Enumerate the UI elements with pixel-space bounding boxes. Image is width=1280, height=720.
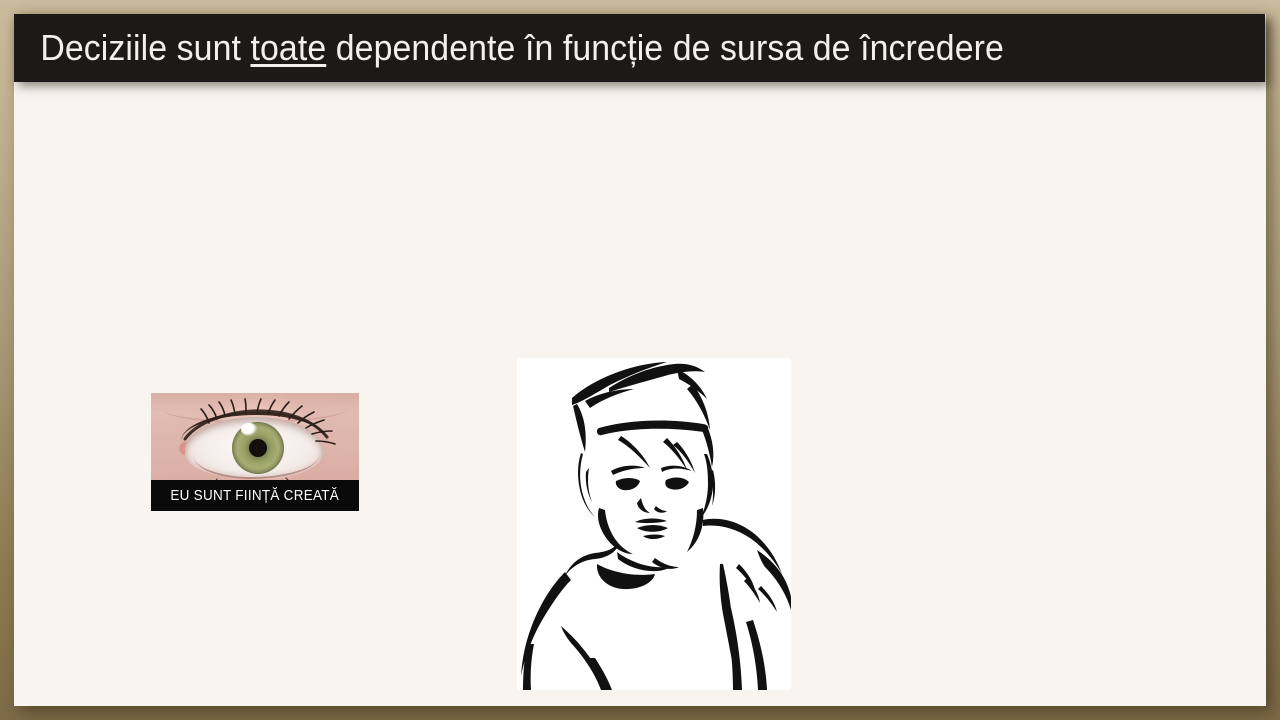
title-prefix: Deciziile sunt — [40, 27, 250, 68]
eye-image-block[interactable]: EU SUNT FIINȚĂ CREATĂ — [151, 393, 359, 511]
eye-caption-text: EU SUNT FIINȚĂ CREATĂ — [171, 487, 340, 504]
eye-image-caption: EU SUNT FIINȚĂ CREATĂ — [151, 480, 359, 511]
slide-title-bar: Deciziile sunt toate dependente în funcț… — [14, 14, 1265, 82]
child-image-block[interactable] — [517, 358, 791, 690]
child-line-art-illustration — [517, 358, 791, 690]
slide-title: Deciziile sunt toate dependente în funcț… — [14, 27, 1004, 69]
slide-body: EU SUNT FIINȚĂ CREATĂ — [14, 14, 1266, 706]
slide-frame: EU SUNT FIINȚĂ CREATĂ — [0, 0, 1280, 720]
title-suffix: dependente în funcție de sursa de încred… — [326, 27, 1004, 68]
title-emphasis: toate — [250, 27, 326, 68]
